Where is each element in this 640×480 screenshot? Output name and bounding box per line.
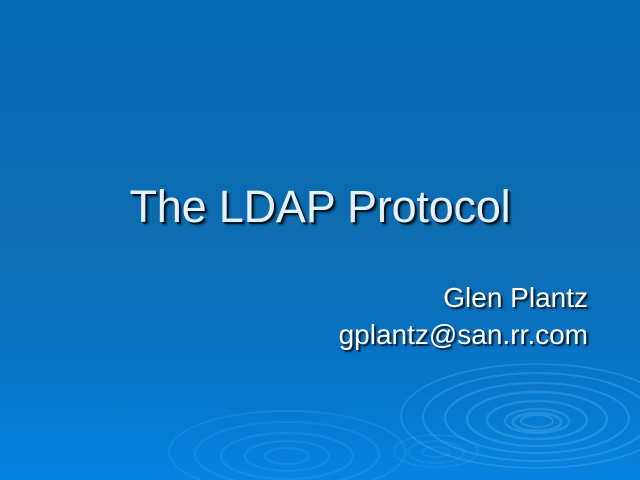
author-name: Glen Plantz xyxy=(339,279,588,316)
presentation-title-slide: The LDAP Protocol Glen Plantz gplantz@sa… xyxy=(0,0,640,480)
author-email: gplantz@san.rr.com xyxy=(339,316,588,353)
page-title: The LDAP Protocol xyxy=(130,182,511,232)
ripple-cluster-left xyxy=(169,411,405,480)
subtitle-container: Glen Plantz gplantz@san.rr.com xyxy=(339,279,588,353)
water-ripple-decoration xyxy=(0,0,640,480)
ripple-core-highlight xyxy=(513,413,561,431)
title-container: The LDAP Protocol xyxy=(0,182,640,232)
ripple-cluster-small xyxy=(394,435,478,467)
ripple-cluster-main xyxy=(401,364,640,468)
